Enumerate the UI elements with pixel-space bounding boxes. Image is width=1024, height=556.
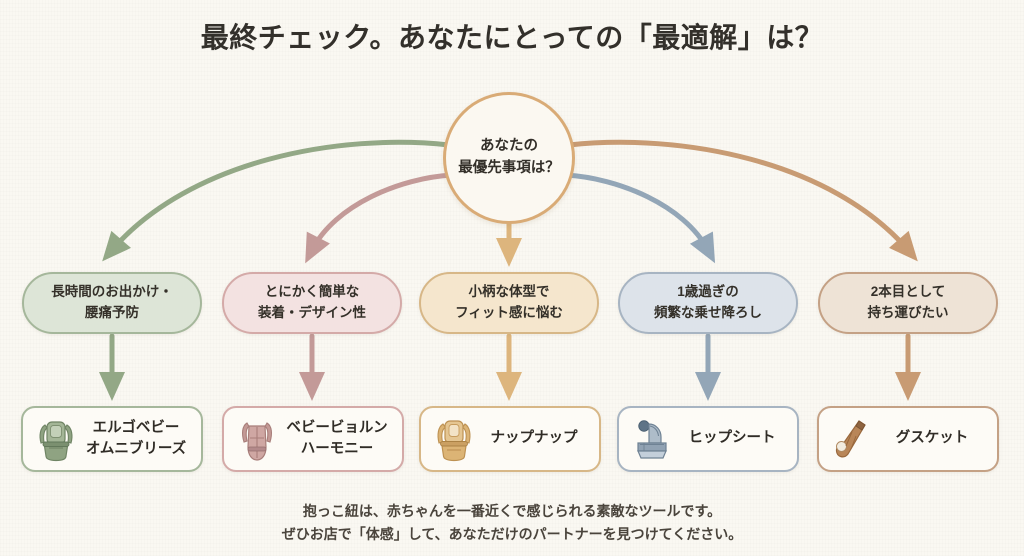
product-napnap-label: ナップナップ [475,428,599,449]
branch-frequent-updown-line1: 1歳過ぎの [677,282,739,303]
product-name-line1: ベビービョルン [286,420,387,436]
product-name-line1: エルゴベビー [93,420,180,436]
branch-easy-design[interactable]: とにかく簡単な 装着・デザイン性 [222,272,402,334]
branch-second-carrier-line2: 持ち運びたい [868,303,949,324]
root-question-line1: あなたの [480,136,538,158]
branch-petite-fit[interactable]: 小柄な体型で フィット感に悩む [419,272,599,334]
product-napnap[interactable]: ナップナップ [419,406,601,472]
hip-seat-icon [631,415,673,463]
product-gsuket-label: グスケット [873,428,997,449]
root-question-line2: 最優先事項は？ [458,158,560,180]
branch-long-outing-line1: 長時間のお出かけ・ [51,282,173,303]
branch-easy-design-line2: 装着・デザイン性 [258,303,366,324]
branch-long-outing[interactable]: 長時間のお出かけ・ 腰痛予防 [22,272,202,334]
footer-line1: 抱っこ紐は、赤ちゃんを一番近くで感じられる素敵なツールです。 [0,500,1024,523]
footer-message: 抱っこ紐は、赤ちゃんを一番近くで感じられる素敵なツールです。 ぜひお店で「体感」… [0,500,1024,546]
branch-easy-design-line1: とにかく簡単な [265,282,360,303]
product-name-line1: ナップナップ [491,430,578,446]
product-babybjorn-harmony-label: ベビービョルン ハーモニー [278,418,402,460]
branch-petite-fit-line2: フィット感に悩む [455,303,563,324]
root-question-node: あなたの 最優先事項は？ [443,92,575,224]
footer-line2: ぜひお店で「体感」して、あなただけのパートナーを見つけてください。 [0,523,1024,546]
product-ergobaby-omni-breeze[interactable]: エルゴベビー オムニブリーズ [21,406,203,472]
baby-carrier-icon [35,415,77,463]
branch-second-carrier[interactable]: 2本目として 持ち運びたい [818,272,998,334]
product-babybjorn-harmony[interactable]: ベビービョルン ハーモニー [222,406,404,472]
product-name-line1: ヒップシート [689,430,776,446]
product-hip-seat-label: ヒップシート [673,428,797,449]
sling-bag-icon [831,415,873,463]
product-name-line1: グスケット [896,430,969,446]
branch-second-carrier-line1: 2本目として [871,282,946,303]
product-gsuket[interactable]: グスケット [817,406,999,472]
branch-long-outing-line2: 腰痛予防 [85,303,139,324]
page-title: 最終チェック。あなたにとっての「最適解」は？ [0,16,1024,56]
branch-petite-fit-line1: 小柄な体型で [469,282,550,303]
baby-carrier-icon [433,415,475,463]
product-ergobaby-omni-breeze-label: エルゴベビー オムニブリーズ [77,418,201,460]
product-hip-seat[interactable]: ヒップシート [617,406,799,472]
branch-frequent-updown-line2: 頻繁な乗せ降ろし [654,303,762,324]
product-name-line2: ハーモニー [301,441,374,457]
baby-carrier-icon [236,415,278,463]
branch-frequent-updown[interactable]: 1歳過ぎの 頻繁な乗せ降ろし [618,272,798,334]
product-name-line2: オムニブリーズ [86,441,186,457]
